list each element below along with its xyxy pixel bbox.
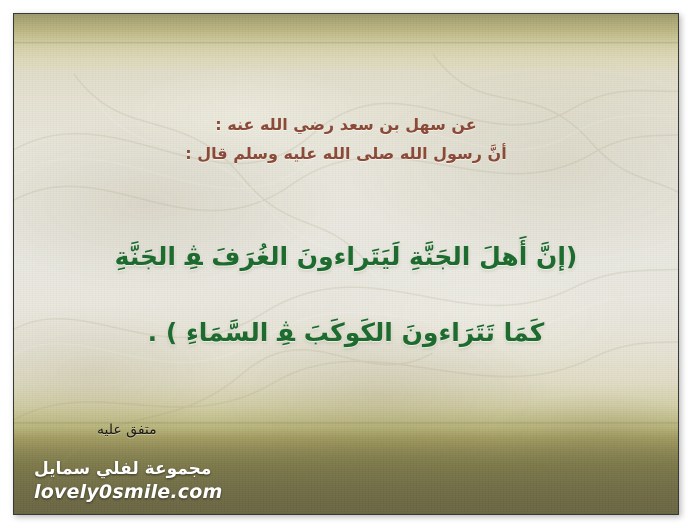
hadith-quote-line-1: (إنَّ أَهلَ الجَنَّةِ لَيَتَراءونَ الغُر… xyxy=(14,219,678,295)
image-card-frame: عن سهل بن سعد رضي الله عنه : أنَّ رسول ا… xyxy=(13,13,679,515)
narration-intro-line-2: أنَّ رسول الله صلى الله عليه وسلم قال : xyxy=(14,139,678,168)
watermark-arabic-name: مجموعة لفلي سمايل xyxy=(34,458,223,480)
site-watermark: مجموعة لفلي سمايل lovely0smile.com xyxy=(34,458,223,504)
hadith-quote: (إنَّ أَهلَ الجَنَّةِ لَيَتَراءونَ الغُر… xyxy=(14,219,678,371)
hadith-source-attribution: متفق عليه xyxy=(97,422,157,438)
narration-intro-line-1: عن سهل بن سعد رضي الله عنه : xyxy=(14,110,678,139)
image-card-outer: عن سهل بن سعد رضي الله عنه : أنَّ رسول ا… xyxy=(0,0,692,532)
watermark-website-url: lovely0smile.com xyxy=(34,480,223,504)
card-content: عن سهل بن سعد رضي الله عنه : أنَّ رسول ا… xyxy=(14,14,678,514)
narration-intro: عن سهل بن سعد رضي الله عنه : أنَّ رسول ا… xyxy=(14,110,678,168)
hadith-quote-line-2: كَمَا تَتَرَاءونَ الكَوكَبَ ﭭِ السَّمَاء… xyxy=(14,295,678,371)
